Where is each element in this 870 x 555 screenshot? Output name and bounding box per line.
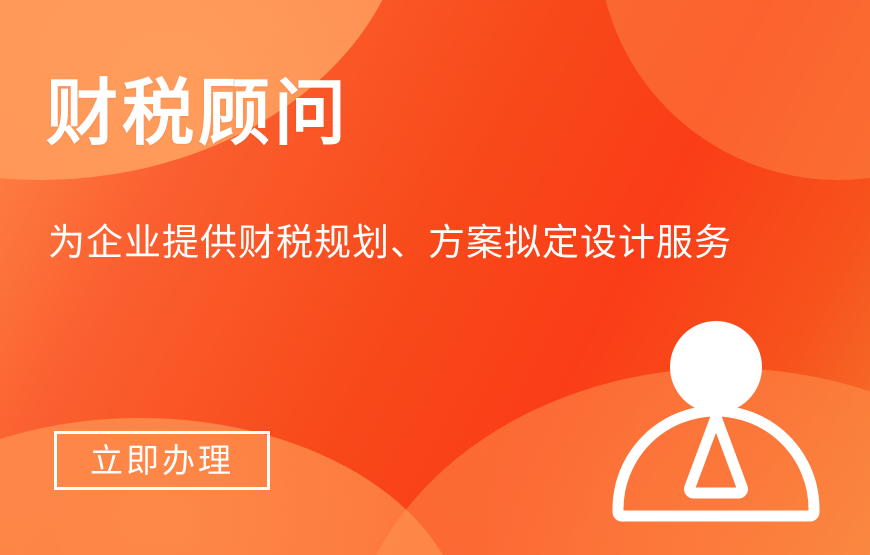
banner-subtitle: 为企业提供财税规划、方案拟定设计服务	[48, 220, 732, 266]
apply-now-button[interactable]: 立即办理	[54, 431, 270, 490]
promo-banner: 财税顾问 为企业提供财税规划、方案拟定设计服务 立即办理	[0, 0, 870, 555]
page-title: 财税顾问	[46, 78, 350, 150]
person-advisor-icon	[596, 305, 836, 545]
